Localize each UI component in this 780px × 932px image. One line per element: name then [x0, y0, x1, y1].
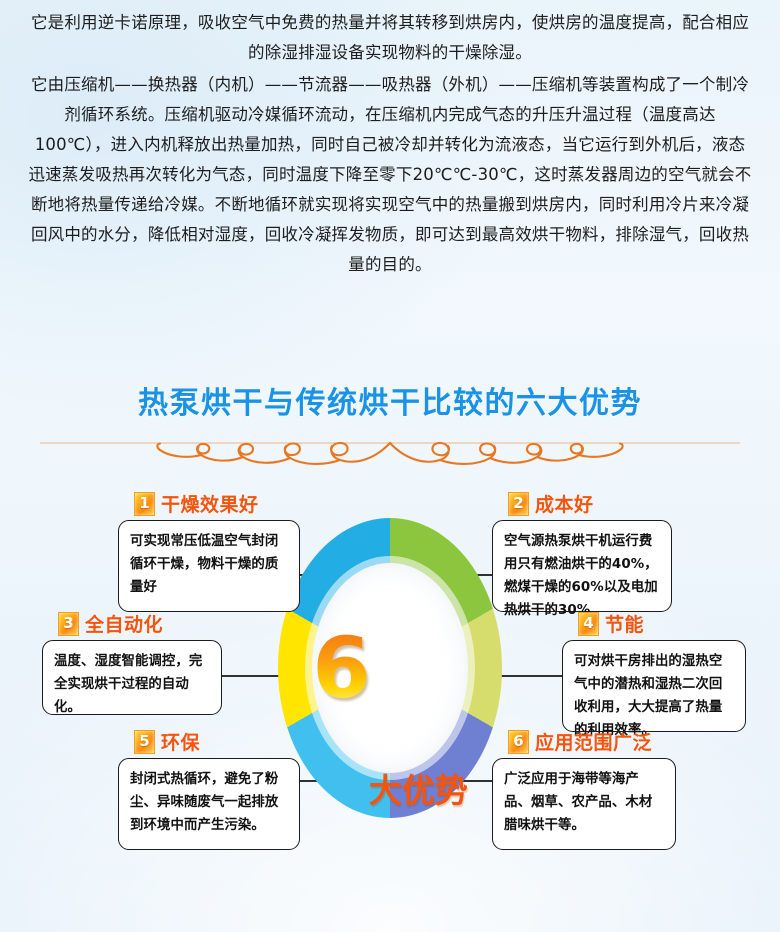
advantage-heading-6: 6 应用范围广泛 [508, 728, 652, 755]
advantage-box-1[interactable]: 可实现常压低温空气封闭循环干燥，物料干燥的质量好 [118, 520, 300, 612]
advantage-title-4: 节能 [605, 610, 644, 637]
donut-chart: 6 大优势 [278, 518, 502, 818]
badge-number-4: 4 [578, 612, 599, 636]
badge-number-1: 1 [134, 492, 155, 516]
advantage-title-1: 干燥效果好 [161, 490, 259, 517]
intro-paragraph-1: 它是利用逆卡诺原理，吸收空气中免费的热量并将其转移到烘房内，使烘房的温度提高，配… [28, 8, 752, 68]
advantage-heading-1: 1 干燥效果好 [134, 490, 259, 517]
intro-paragraph-2: 它由压缩机——换热器（内机）——节流器——吸热器（外机）——压缩机等装置构成了一… [28, 70, 752, 280]
advantage-title-3: 全自动化 [85, 610, 163, 637]
advantage-box-6[interactable]: 广泛应用于海带等海产品、烟草、农产品、木材腊味烘干等。 [492, 758, 676, 850]
six-advantages-diagram: 6 大优势 1 干燥效果好 可实现常压低温空气封闭循环干燥，物料干燥的质量好 2… [0, 460, 780, 932]
advantage-box-3[interactable]: 温度、湿度智能调控，完全实现烘干过程的自动化。 [42, 640, 222, 715]
badge-number-3: 3 [58, 612, 79, 636]
badge-number-2: 2 [508, 492, 529, 516]
advantage-heading-3: 3 全自动化 [58, 610, 163, 637]
section-title: 热泵烘干与传统烘干比较的六大优势 [138, 378, 642, 422]
donut-center-label: 6 大优势 [278, 518, 502, 818]
intro-text-block: 它是利用逆卡诺原理，吸收空气中免费的热量并将其转移到烘房内，使烘房的温度提高，配… [0, 8, 780, 280]
page-root: 它是利用逆卡诺原理，吸收空气中免费的热量并将其转移到烘房内，使烘房的温度提高，配… [0, 0, 780, 932]
advantage-title-2: 成本好 [535, 490, 594, 517]
badge-number-5: 5 [134, 730, 155, 754]
advantage-box-4[interactable]: 可对烘干房排出的湿热空气中的潜热和湿热二次回收利用，大大提高了热量的利用效率。 [562, 640, 746, 732]
section-title-wrap: 热泵烘干与传统烘干比较的六大优势 [0, 378, 780, 422]
advantage-title-5: 环保 [161, 728, 200, 755]
center-number: 6 [312, 634, 370, 703]
center-label-text: 大优势 [369, 764, 468, 812]
advantage-heading-5: 5 环保 [134, 728, 200, 755]
advantage-heading-4: 4 节能 [578, 610, 644, 637]
advantage-box-5[interactable]: 封闭式热循环，避免了粉尘、异味随废气一起排放到环境中而产生污染。 [118, 758, 300, 850]
advantage-heading-2: 2 成本好 [508, 490, 594, 517]
advantage-title-6: 应用范围广泛 [535, 728, 652, 755]
badge-number-6: 6 [508, 730, 529, 754]
advantage-box-2[interactable]: 空气源热泵烘干机运行费用只有燃油烘干的40%，燃煤干燥的60%以及电加热烘干的3… [492, 520, 672, 612]
